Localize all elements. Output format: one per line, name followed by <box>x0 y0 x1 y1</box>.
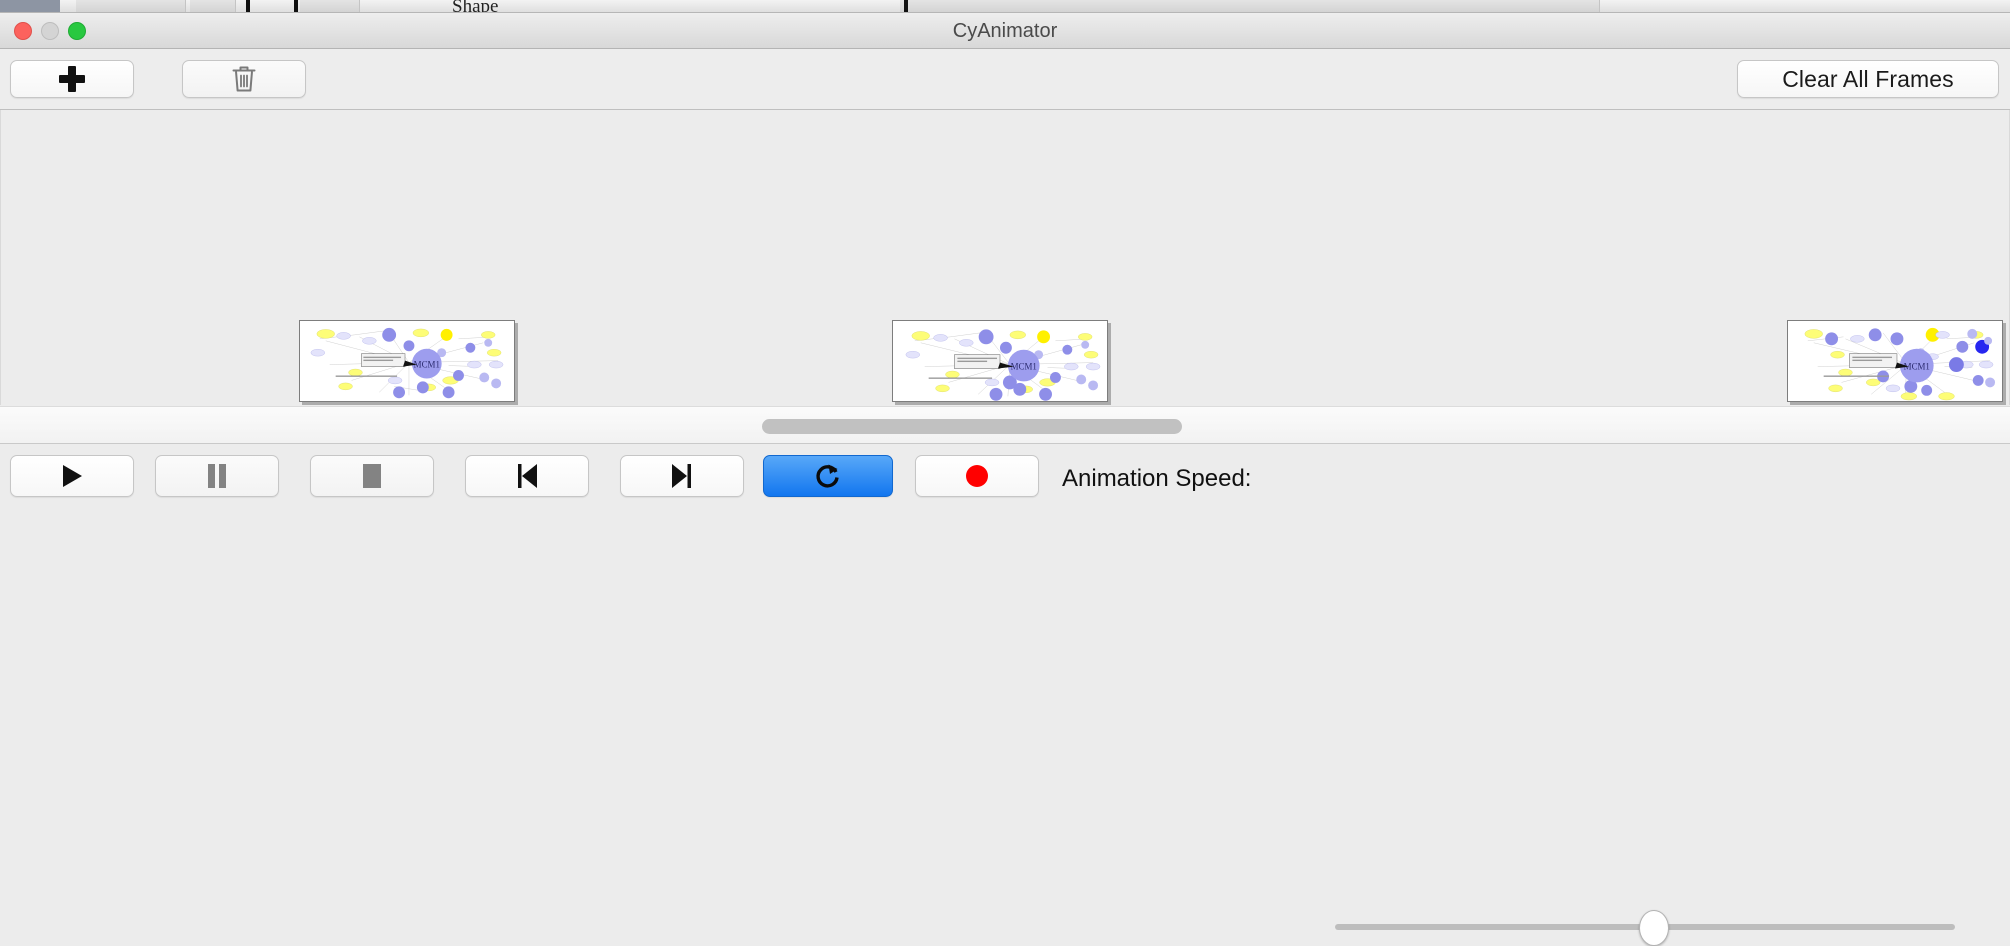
window-title: CyAnimator <box>0 13 2010 49</box>
clear-all-frames-button[interactable]: Clear All Frames <box>1737 60 1999 98</box>
timeline-frame-thumbnail[interactable]: MCM1 <box>299 320 515 402</box>
background-window-dark-chunk <box>0 0 60 13</box>
play-button[interactable] <box>10 455 134 497</box>
stop-icon <box>360 463 384 489</box>
background-window-chunk <box>300 0 360 13</box>
background-window-label: Shape <box>452 0 498 13</box>
timeline-scrollbar-thumb[interactable] <box>762 419 1182 434</box>
timeline-frame-thumbnail[interactable]: MCM1 <box>892 320 1108 402</box>
pause-button[interactable] <box>155 455 279 497</box>
next-frame-button[interactable] <box>620 455 744 497</box>
playback-bar: Animation Speed: <box>0 445 2010 510</box>
record-icon <box>963 462 991 490</box>
timeline-panel[interactable]: MCM1 <box>0 110 2010 405</box>
background-window-tick <box>904 0 908 13</box>
background-window-chunk <box>76 0 186 13</box>
timeline-frame-thumbnail[interactable]: MCM1 <box>1787 320 2003 402</box>
clear-all-frames-label: Clear All Frames <box>1782 66 1954 93</box>
play-icon <box>60 463 84 489</box>
pause-icon <box>206 463 228 489</box>
svg-text:MCM1: MCM1 <box>414 360 440 370</box>
stop-button[interactable] <box>310 455 434 497</box>
title-bar: CyAnimator <box>0 13 2010 49</box>
skip-forward-icon <box>670 463 694 489</box>
loop-icon <box>815 462 841 490</box>
previous-frame-button[interactable] <box>465 455 589 497</box>
toolbar: Clear All Frames <box>0 49 2010 110</box>
animation-speed-label: Animation Speed: <box>1062 465 1251 493</box>
background-window-chunk <box>900 0 1600 13</box>
trash-icon <box>231 64 257 94</box>
network-graph-preview: MCM1 <box>1788 321 2002 402</box>
loop-button[interactable] <box>763 455 893 497</box>
network-graph-preview: MCM1 <box>300 321 514 402</box>
background-window-tick <box>294 0 298 13</box>
background-window: Shape <box>0 0 2010 13</box>
record-button[interactable] <box>915 455 1039 497</box>
delete-frame-button[interactable] <box>182 60 306 98</box>
background-window-chunk <box>190 0 236 13</box>
add-frame-button[interactable] <box>10 60 134 98</box>
network-graph-preview: MCM1 <box>893 321 1107 402</box>
animation-speed-slider-thumb[interactable] <box>1639 910 1669 946</box>
skip-back-icon <box>515 463 539 489</box>
svg-text:MCM1: MCM1 <box>1011 362 1037 372</box>
plus-icon <box>59 66 85 92</box>
background-window-tick <box>246 0 250 13</box>
